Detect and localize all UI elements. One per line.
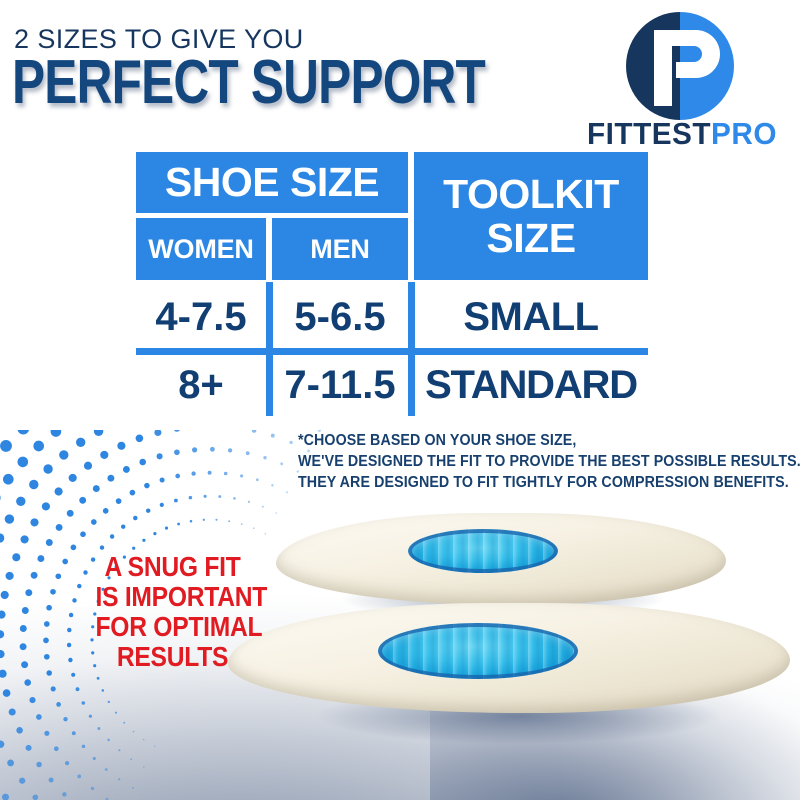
callout-line-4: RESULTS bbox=[96, 642, 250, 672]
brand-wordmark: FITTESTPRO bbox=[576, 116, 787, 152]
disclaimer-text: *CHOOSE BASED ON YOUR SHOE SIZE, WE'VE D… bbox=[298, 430, 758, 493]
table-cell-women-row1: 4-7.5 bbox=[136, 286, 266, 348]
table-header-men: MEN bbox=[272, 218, 408, 280]
callout-line-2: IS IMPORTANT bbox=[96, 582, 250, 612]
callout-line-3: FOR OPTIMAL bbox=[96, 612, 250, 642]
toolkit-header-line-2: SIZE bbox=[486, 216, 575, 260]
insole-front-gel-pad bbox=[378, 623, 578, 679]
infographic-canvas: 2 SIZES TO GIVE YOU PERFECT SUPPORT FITT… bbox=[0, 0, 800, 800]
table-cell-toolkit-row2: STANDARD bbox=[414, 354, 648, 416]
table-header-toolkit-size: TOOLKIT SIZE bbox=[414, 152, 648, 280]
size-chart-table: SHOE SIZE TOOLKIT SIZE WOMEN MEN 4-7.5 5… bbox=[136, 152, 648, 410]
disclaimer-line-2: WE'VE DESIGNED THE FIT TO PROVIDE THE BE… bbox=[298, 451, 758, 472]
disclaimer-line-3: THEY ARE DESIGNED TO FIT TIGHTLY FOR COM… bbox=[298, 472, 758, 493]
brand-logo: FITTESTPRO bbox=[572, 8, 792, 148]
table-cell-men-row1: 5-6.5 bbox=[272, 286, 408, 348]
brand-word-primary: FITTEST bbox=[587, 116, 711, 151]
gel-insoles-pair-photo bbox=[250, 495, 800, 800]
brand-word-accent: PRO bbox=[711, 116, 777, 151]
page-title: PERFECT SUPPORT bbox=[12, 52, 485, 114]
toolkit-header-line-1: TOOLKIT bbox=[443, 172, 619, 216]
snug-fit-callout: A SNUG FIT IS IMPORTANT FOR OPTIMAL RESU… bbox=[96, 552, 250, 672]
table-header-women: WOMEN bbox=[136, 218, 266, 280]
table-cell-women-row2: 8+ bbox=[136, 354, 266, 416]
insole-front bbox=[218, 591, 798, 741]
disclaimer-line-1: *CHOOSE BASED ON YOUR SHOE SIZE, bbox=[298, 430, 758, 451]
insole-back-gel-pad bbox=[408, 529, 558, 573]
table-header-shoe-size: SHOE SIZE bbox=[136, 152, 408, 213]
table-cell-men-row2: 7-11.5 bbox=[272, 354, 408, 416]
fittestpro-fp-monogram-icon bbox=[624, 10, 736, 122]
callout-line-1: A SNUG FIT bbox=[96, 552, 250, 582]
table-cell-toolkit-row1: SMALL bbox=[414, 286, 648, 348]
